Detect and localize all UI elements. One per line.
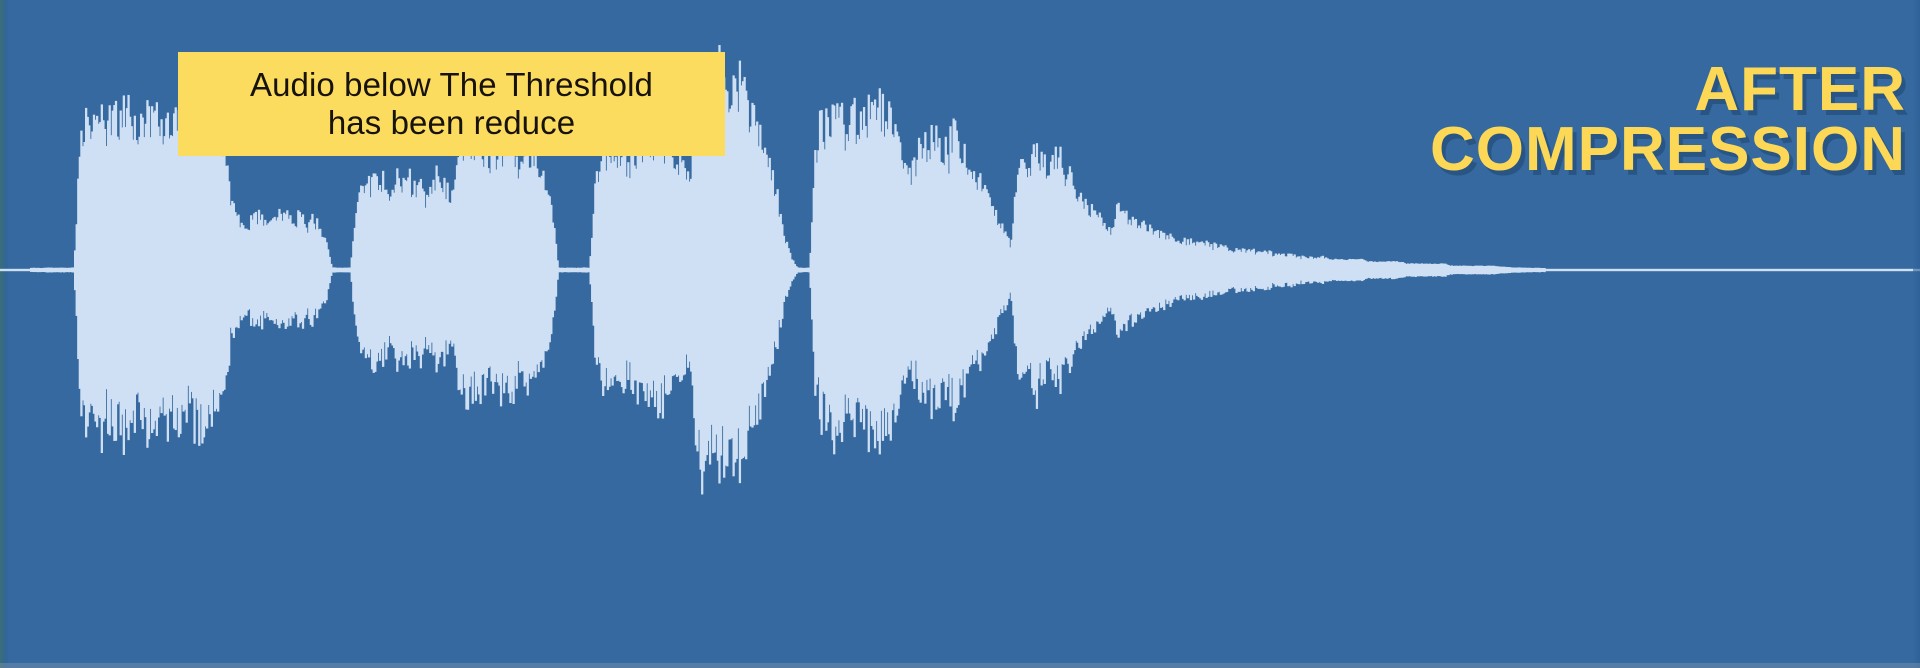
- right-edge-shade: [1913, 0, 1920, 668]
- callout-line-1: Audio below The Threshold: [250, 66, 653, 104]
- zero-center-line: [0, 269, 1920, 271]
- callout-line-2: has been reduce: [328, 104, 575, 142]
- headline-line-1: AFTER: [1146, 60, 1906, 120]
- page-title: AFTER COMPRESSION: [1146, 60, 1906, 180]
- headline-line-2: COMPRESSION: [1146, 120, 1906, 180]
- bottom-edge-shade: [0, 663, 1920, 668]
- threshold-callout: Audio below The Threshold has been reduc…: [178, 52, 725, 156]
- waveform-canvas: Audio below The Threshold has been reduc…: [0, 0, 1920, 668]
